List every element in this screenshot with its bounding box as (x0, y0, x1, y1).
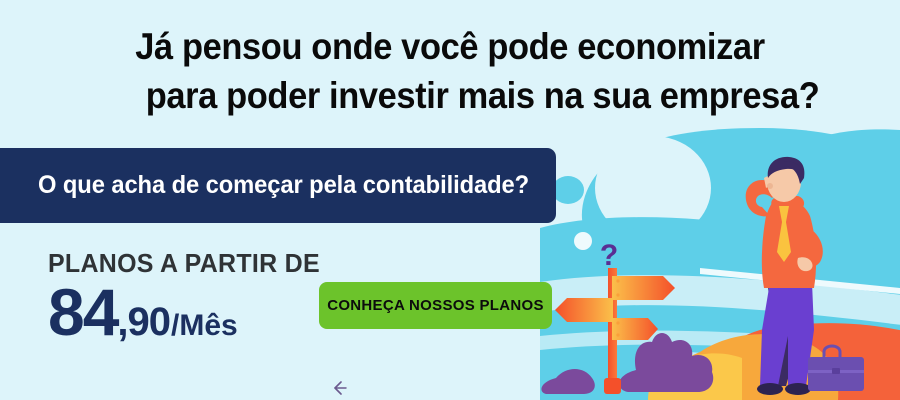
figure-shoe-right (785, 383, 811, 395)
signpost-base (604, 378, 621, 394)
price-caption: PLANOS A PARTIR DE (48, 248, 320, 279)
sign-rivet-3 (616, 321, 619, 324)
sign-rivet-1 (616, 279, 619, 282)
cta-button-label: CONHEÇA NOSSOS PLANOS (327, 297, 544, 314)
briefcase-lock (832, 368, 840, 374)
subheadline-bar: O que acha de começar pela contabilidade… (0, 148, 556, 223)
carousel-prev-button[interactable] (330, 378, 354, 398)
blob-dot-right (842, 149, 886, 201)
sign-rivet-2 (616, 293, 619, 296)
figure-ear (767, 183, 773, 189)
price-integer: 84 (48, 281, 117, 343)
sign-rivet-4 (616, 333, 619, 336)
figure-shoe-left (757, 383, 783, 395)
price-decimal: ,90 (117, 302, 170, 342)
cta-button[interactable]: CONHEÇA NOSSOS PLANOS (319, 282, 552, 329)
arrow-left-icon (330, 378, 354, 398)
circle-white-accent (574, 232, 592, 250)
price-block: PLANOS A PARTIR DE 84 ,90 /Mês (48, 248, 331, 343)
arrow-sign-left-middle (555, 298, 613, 322)
question-mark-icon: ? (600, 239, 618, 272)
subheadline-text: O que acha de começar pela contabilidade… (38, 171, 529, 200)
price-amount: 84 ,90 /Mês (48, 281, 331, 343)
promo-banner: ? (0, 0, 900, 400)
blob-dot-small-left (552, 176, 584, 204)
price-period: /Mês (171, 311, 238, 341)
arrow-sign-right-top (612, 276, 675, 300)
